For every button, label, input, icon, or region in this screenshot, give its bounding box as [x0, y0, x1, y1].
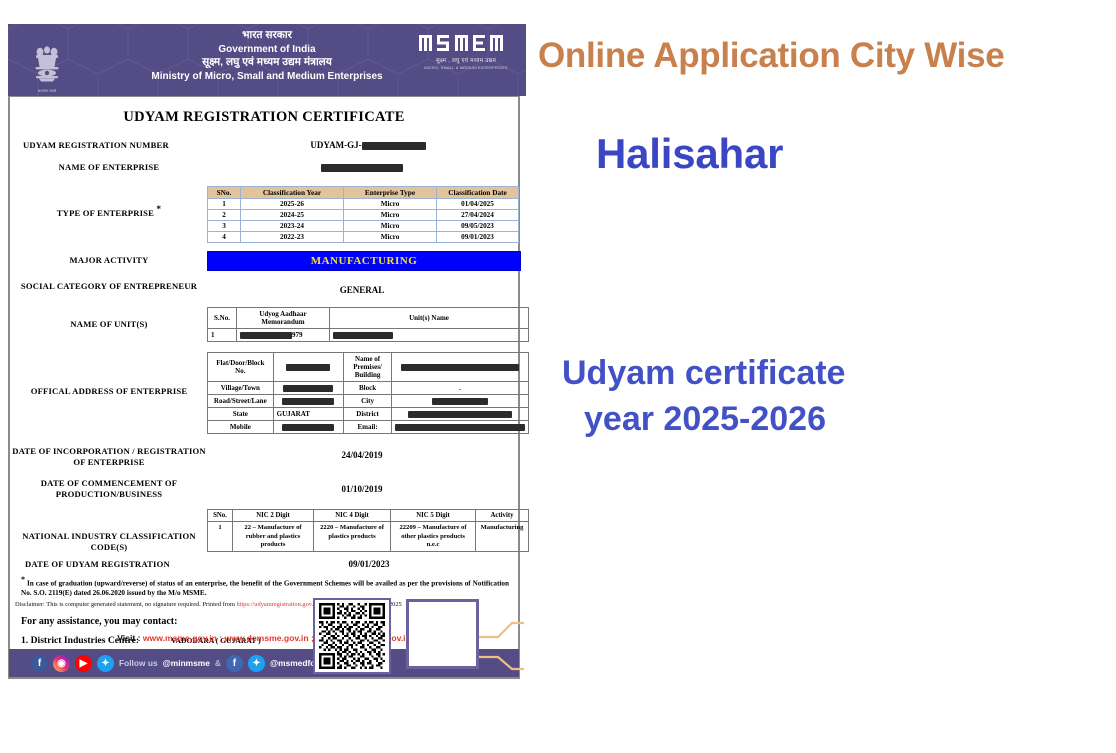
registration-number-label: UDYAM REGISTRATION NUMBER [11, 138, 219, 151]
addr-key-city: City [344, 395, 392, 408]
cell-type: Micro [344, 232, 437, 243]
msme-letters-icon [418, 32, 514, 54]
ministry-english-label: Ministry of Micro, Small and Medium Ente… [8, 70, 526, 83]
twitter-icon[interactable]: ✦ [97, 655, 114, 672]
certificate-title: UDYAM REGISTRATION CERTIFICATE [11, 109, 517, 126]
table-row: 1 979 [208, 329, 529, 342]
certificate-year-line1: Udyam certificate [562, 354, 845, 392]
nic-codes-label: NATIONAL INDUSTRY CLASSIFICATION CODE(S) [11, 507, 207, 552]
youtube-icon[interactable]: ▶ [75, 655, 92, 672]
th-nic-sno: SNo. [208, 510, 233, 522]
facebook-icon[interactable]: f [31, 655, 48, 672]
row-major-activity: MAJOR ACTIVITY MANUFACTURING [11, 249, 517, 271]
redacted-flat [286, 364, 330, 371]
row-incorporation-date: DATE OF INCORPORATION / REGISTRATION OF … [11, 440, 517, 467]
graduation-footnote: * In case of graduation (upward/reverse)… [11, 575, 517, 599]
redacted-unit-name [333, 332, 393, 339]
table-header-row: SNo. NIC 2 Digit NIC 4 Digit NIC 5 Digit… [208, 510, 529, 522]
th-classification-date: Classification Date [437, 187, 519, 199]
redacted-premises [401, 364, 519, 371]
major-activity-banner: MANUFACTURING [207, 251, 521, 271]
certificate-header: सत्यमेव जयते भारत सरकार Government of In… [8, 24, 526, 96]
social-category-value: GENERAL [207, 279, 517, 295]
addr-val-email [392, 421, 529, 434]
redacted-enterprise-name [321, 164, 403, 172]
row-udyam-registration-date: DATE OF UDYAM REGISTRATION 09/01/2023 [11, 557, 517, 570]
table-row: State GUJARAT District [208, 408, 529, 421]
handle-msmedfo[interactable]: @msmedfo [270, 658, 315, 668]
cell-date: 27/04/2024 [437, 210, 519, 221]
type-of-enterprise-label: TYPE OF ENTERPRISE * [11, 182, 207, 219]
th-enterprise-type: Enterprise Type [344, 187, 437, 199]
cell-sno: 4 [208, 232, 241, 243]
table-row: Mobile Email: [208, 421, 529, 434]
table-header-row: S.No. Udyog Aadhaar Memorandum Unit(s) N… [208, 308, 529, 329]
official-address-label: OFFICAL ADDRESS OF ENTERPRISE [11, 350, 207, 397]
redacted-road [282, 398, 334, 405]
cell-type: Micro [344, 221, 437, 232]
table-row: Flat/Door/Block No. Name of Premises/ Bu… [208, 353, 529, 382]
udyam-certificate: सत्यमेव जयते भारत सरकार Government of In… [8, 24, 526, 679]
cell-sno: 3 [208, 221, 241, 232]
right-panel: Online Application City Wise Halisahar U… [530, 0, 1116, 753]
addr-val-block: . [392, 382, 529, 395]
qr-code-icon [318, 603, 386, 669]
addr-key-premises: Name of Premises/ Building [344, 353, 392, 382]
social-category-label: SOCIAL CATEGORY OF ENTREPRENEUR [11, 279, 207, 292]
cell-nic5: 22209 – Manufacture of other plastics pr… [391, 522, 476, 552]
udyam-registration-date-label: DATE OF UDYAM REGISTRATION [11, 557, 221, 570]
cell-year: 2022-23 [241, 232, 344, 243]
cell-sno: 2 [208, 210, 241, 221]
footnote-star-icon: * [21, 575, 25, 584]
addr-val-state: GUJARAT [273, 408, 344, 421]
th-nic4: NIC 4 Digit [314, 510, 391, 522]
redacted-email [395, 424, 525, 431]
row-social-category: SOCIAL CATEGORY OF ENTREPRENEUR GENERAL [11, 279, 517, 295]
addr-key-email: Email: [344, 421, 392, 434]
cell-unit-name [330, 329, 529, 342]
table-row: Road/Street/Lane City [208, 395, 529, 408]
registration-number-prefix: UDYAM-GJ- [310, 140, 361, 150]
table-row: 4 2022-23 Micro 09/01/2023 [208, 232, 519, 243]
redacted-district [408, 411, 512, 418]
commencement-date-value: 01/10/2019 [207, 476, 517, 494]
th-nic-activity: Activity [476, 510, 529, 522]
qr-code[interactable] [313, 598, 391, 674]
redacted-village [283, 385, 333, 392]
redacted-city [432, 398, 488, 405]
addr-key-block: Block [344, 382, 392, 395]
cell-year: 2023-24 [241, 221, 344, 232]
redacted-registration-number [362, 142, 426, 150]
facebook-icon-secondary[interactable]: f [226, 655, 243, 672]
enterprise-name-label: NAME OF ENTERPRISE [11, 160, 207, 173]
table-row: 1 22 – Manufacture of rubber and plastic… [208, 522, 529, 552]
addr-key-village: Village/Town [208, 382, 274, 395]
cell-type: Micro [344, 199, 437, 210]
cell-uam: 979 [237, 329, 330, 342]
cell-nic-sno: 1 [208, 522, 233, 552]
cell-date: 01/04/2025 [437, 199, 519, 210]
th-uam: Udyog Aadhaar Memorandum [237, 308, 330, 329]
page-root: सत्यमेव जयते भारत सरकार Government of In… [0, 0, 1116, 753]
row-registration-number: UDYAM REGISTRATION NUMBER UDYAM-GJ- [11, 138, 517, 151]
city-name: Halisahar [596, 130, 783, 178]
th-nic5: NIC 5 Digit [391, 510, 476, 522]
classification-table: SNo. Classification Year Enterprise Type… [207, 186, 519, 243]
cell-nic-activity: Manufacturing [476, 522, 529, 552]
type-of-enterprise-text: TYPE OF ENTERPRISE [57, 208, 154, 218]
follow-us-label: Follow us [119, 658, 158, 668]
major-activity-label: MAJOR ACTIVITY [11, 249, 207, 266]
msme-logo: सूक्ष्म , लघु एवं मध्यम उद्यम MICRO, SMA… [414, 32, 518, 70]
unit-names-label: NAME OF UNIT(S) [11, 305, 207, 330]
addr-val-premises [392, 353, 529, 382]
cell-nic2: 22 – Manufacture of rubber and plastics … [233, 522, 314, 552]
certificate-year-line2: year 2025-2026 [562, 396, 845, 442]
row-unit-names: NAME OF UNIT(S) S.No. Udyog Aadhaar Memo… [11, 305, 517, 342]
th-nic2: NIC 2 Digit [233, 510, 314, 522]
table-row: 2 2024-25 Micro 27/04/2024 [208, 210, 519, 221]
redacted-uam [240, 332, 292, 339]
signature-placeholder-box [406, 599, 479, 669]
addr-val-mobile [273, 421, 344, 434]
type-footnote-marker: * [154, 204, 161, 214]
disclaimer-prefix: Disclaimer: This is computer generated s… [15, 601, 237, 608]
enterprise-name-value [207, 160, 517, 172]
table-header-row: SNo. Classification Year Enterprise Type… [208, 187, 519, 199]
incorporation-date-value: 24/04/2019 [207, 440, 517, 460]
addr-key-state: State [208, 408, 274, 421]
page-title: Online Application City Wise [538, 36, 1113, 76]
row-official-address: OFFICAL ADDRESS OF ENTERPRISE Flat/Door/… [11, 350, 517, 434]
table-row: Village/Town Block . [208, 382, 529, 395]
row-commencement-date: DATE OF COMMENCEMENT OF PRODUCTION/BUSIN… [11, 476, 517, 499]
disclaimer-link[interactable]: https://udyamregistration.gov.in [237, 601, 319, 608]
commencement-date-label: DATE OF COMMENCEMENT OF PRODUCTION/BUSIN… [11, 476, 207, 499]
row-type-of-enterprise: TYPE OF ENTERPRISE * SNo. Classification… [11, 182, 517, 243]
certificate-year-heading: Udyam certificate year 2025-2026 [562, 350, 845, 442]
table-row: 1 2025-26 Micro 01/04/2025 [208, 199, 519, 210]
instagram-icon[interactable]: ◉ [53, 655, 70, 672]
cell-year: 2025-26 [241, 199, 344, 210]
cell-unit-sno: 1 [208, 329, 237, 342]
cell-nic4: 2220 – Manufacture of plastics products [314, 522, 391, 552]
cell-date: 09/01/2023 [437, 232, 519, 243]
emblem-caption: सत्यमेव जयते [38, 88, 56, 93]
twitter-icon-secondary[interactable]: ✦ [248, 655, 265, 672]
cell-date: 09/05/2023 [437, 221, 519, 232]
certificate-body: UDYAM REGISTRATION CERTIFICATE UDYAM REG… [8, 96, 520, 679]
msme-sub-hindi: सूक्ष्म , लघु एवं मध्यम उद्यम [414, 56, 518, 64]
registration-number-value: UDYAM-GJ- [219, 138, 517, 150]
th-sno: SNo. [208, 187, 241, 199]
addr-val-village [273, 382, 344, 395]
addr-val-flat [273, 353, 344, 382]
addr-key-road: Road/Street/Lane [208, 395, 274, 408]
incorporation-date-label: DATE OF INCORPORATION / REGISTRATION OF … [11, 440, 207, 467]
addr-key-mobile: Mobile [208, 421, 274, 434]
visit-prefix: Visit : [117, 633, 143, 643]
th-unit-sno: S.No. [208, 308, 237, 329]
cell-year: 2024-25 [241, 210, 344, 221]
unit-names-table: S.No. Udyog Aadhaar Memorandum Unit(s) N… [207, 307, 529, 342]
address-table: Flat/Door/Block No. Name of Premises/ Bu… [207, 352, 529, 434]
social-amp: & [215, 658, 221, 668]
uam-suffix: 979 [292, 331, 303, 339]
addr-val-city [392, 395, 529, 408]
cell-sno: 1 [208, 199, 241, 210]
addr-val-road [273, 395, 344, 408]
th-classification-year: Classification Year [241, 187, 344, 199]
addr-key-district: District [344, 408, 392, 421]
nic-table: SNo. NIC 2 Digit NIC 4 Digit NIC 5 Digit… [207, 509, 529, 552]
msme-wordmark-icon [414, 32, 518, 54]
row-nic-codes: NATIONAL INDUSTRY CLASSIFICATION CODE(S)… [11, 507, 517, 552]
udyam-registration-date-value: 09/01/2023 [221, 557, 517, 569]
msme-sub-english: MICRO, SMALL & MEDIUM ENTERPRISES [414, 65, 518, 70]
redacted-mobile [282, 424, 334, 431]
addr-val-district [392, 408, 529, 421]
cell-type: Micro [344, 210, 437, 221]
footnote-text: In case of graduation (upward/reverse) o… [21, 579, 509, 597]
th-unit-name: Unit(s) Name [330, 308, 529, 329]
handle-minmsme[interactable]: @minmsme [163, 658, 210, 668]
addr-key-flat: Flat/Door/Block No. [208, 353, 274, 382]
table-row: 3 2023-24 Micro 09/05/2023 [208, 221, 519, 232]
row-enterprise-name: NAME OF ENTERPRISE [11, 160, 517, 173]
